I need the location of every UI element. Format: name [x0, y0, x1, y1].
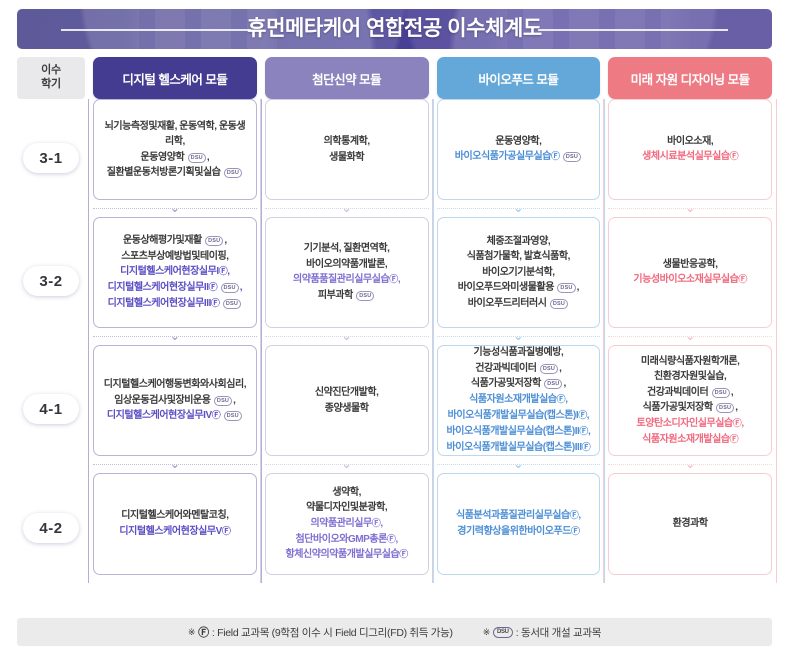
title-banner: 휴먼메타케어 연합전공 이수체계도: [17, 9, 772, 49]
column-rail-right: [261, 217, 262, 345]
flow-separator: ⌄: [437, 200, 601, 217]
flow-separator: ⌄: [93, 328, 257, 345]
course-item: 토양탄소디자인실무실습Ⓕ,: [637, 418, 744, 429]
semester-cell: 4-1: [17, 345, 85, 473]
field-marker-icon: Ⓕ: [219, 267, 228, 277]
dsu-badge-icon: DSU: [544, 379, 562, 389]
course-item: 첨단바이오와GMP총론Ⓕ,: [295, 534, 397, 545]
cell-m4-s31: 바이오소재,생체시료분석실무실습Ⓕ⌄: [608, 99, 772, 217]
field-marker-icon: Ⓕ: [578, 411, 587, 421]
column-rail-left: [432, 473, 433, 583]
course-list: 신약진단개발학,종양생물학: [315, 385, 379, 416]
course-item: 식품첨가물학,: [467, 251, 522, 262]
course-item: 식품가공및저장학 DSU,: [471, 378, 566, 389]
course-item: 의약품관리실무Ⓕ,: [311, 518, 383, 529]
cell-m2-s31: 의학통계학,생물화학⌄: [265, 99, 429, 217]
column-rail-left: [260, 345, 261, 473]
column-rail-right: [261, 345, 262, 473]
course-item: 스포츠부상예방법및테이핑,: [121, 251, 228, 262]
flow-separator: ⌄: [608, 456, 772, 473]
course-item: 디지털헬스케어현장실무IⒻ,: [120, 266, 230, 277]
module-header-advanced-drug[interactable]: 첨단신약 모듈: [265, 57, 429, 99]
course-item: 항체신약의약품개발실무실습Ⓕ: [285, 549, 407, 560]
dsu-badge-icon: DSU: [493, 627, 513, 638]
course-item: 친환경자원및실습,: [654, 371, 726, 382]
field-marker-icon: Ⓕ: [571, 527, 580, 537]
chevron-down-icon: ⌄: [685, 329, 695, 344]
flow-separator: ⌄: [608, 200, 772, 217]
chevron-down-icon: ⌄: [513, 329, 523, 344]
column-rail-right: [604, 345, 605, 473]
course-list: 디지털헬스케어행동변화와사회심리,임상운동검사및장비운용 DSU,디지털헬스케어…: [104, 377, 246, 424]
column-rail-left: [603, 99, 604, 217]
cell-m2-s42: 생약학,약물디자인및분광학,의약품관리실무Ⓕ,첨단바이오와GMP총론Ⓕ,항체신약…: [265, 473, 429, 583]
semester-header-line1: 이수: [41, 64, 61, 78]
course-item: 운동상해평가및재활 DSU,: [123, 235, 227, 246]
legend-dsu-text: : 동서대 개설 교과목: [516, 625, 601, 640]
column-rail-right: [776, 345, 777, 473]
course-item: 피부과학 DSU: [318, 290, 376, 301]
dsu-badge-icon: DSU: [716, 403, 734, 413]
course-box[interactable]: 바이오소재,생체시료분석실무실습Ⓕ: [608, 99, 772, 200]
course-item: 바이오푸드와미생물활용 DSU,: [458, 282, 579, 293]
column-rail-right: [776, 99, 777, 217]
column-rail-left: [603, 473, 604, 583]
field-marker-icon: Ⓕ: [399, 550, 408, 560]
course-item: 디지털헬스케어현장실무IIIⒻ DSU: [108, 298, 242, 309]
course-item: 기기분석,: [304, 243, 341, 254]
cell-m1-s31: 뇌기능측정및재활, 운동역학, 운동생리학,운동영양학 DSU,질환별운동처방론…: [93, 99, 257, 217]
cell-m4-s32: 생물반응공학,기능성바이오소재실무실습Ⓕ⌄: [608, 217, 772, 345]
course-box[interactable]: 환경과학: [608, 473, 772, 575]
module-header-future-resource[interactable]: 미래 자원 디자이닝 모듈: [608, 57, 772, 99]
cell-m1-s42: 디지털헬스케어와멘탈코칭,디지털헬스케어현장실무VⒻ: [93, 473, 257, 583]
grid-body: 3-1뇌기능측정및재활, 운동역학, 운동생리학,운동영양학 DSU,질환별운동…: [17, 99, 772, 583]
field-marker-icon: Ⓕ: [389, 275, 398, 285]
legend-footer: ※ Ⓕ : Field 교과목 (9학점 이수 시 Field 디그리(FD) …: [17, 618, 772, 646]
field-marker-icon: Ⓕ: [551, 152, 560, 162]
column-rail-right: [433, 345, 434, 473]
course-box[interactable]: 체중조절과영양,식품첨가물학, 발효식품학,바이오기기분석학,바이오푸드와미생물…: [437, 217, 601, 328]
course-box[interactable]: 생물반응공학,기능성바이오소재실무실습Ⓕ: [608, 217, 772, 328]
module-header-label: 미래 자원 디자이닝 모듈: [608, 57, 772, 99]
course-box[interactable]: 뇌기능측정및재활, 운동역학, 운동생리학,운동영양학 DSU,질환별운동처방론…: [93, 99, 257, 200]
flow-separator: ⌄: [437, 328, 601, 345]
course-list: 운동상해평가및재활 DSU,스포츠부상예방법및테이핑,디지털헬스케어현장실무IⒻ…: [108, 233, 242, 312]
course-list: 미래식량식품자원학개론,친환경자원및실습,건강과빅데이터 DSU,식품가공및저장…: [637, 354, 744, 448]
dsu-badge-icon: DSU: [221, 283, 239, 293]
chevron-down-icon: ⌄: [685, 201, 695, 216]
course-item: 디지털헬스케어현장실무IIⒻ DSU,: [108, 282, 242, 293]
course-item: 바이오식품가공실무실습Ⓕ DSU: [455, 151, 582, 162]
field-marker-icon: Ⓕ: [582, 443, 591, 453]
field-marker-icon: Ⓕ: [570, 511, 579, 521]
semester-badge: 4-1: [23, 394, 79, 424]
course-box[interactable]: 신약진단개발학,종양생물학: [265, 345, 429, 456]
course-list: 생물반응공학,기능성바이오소재실무실습Ⓕ: [633, 257, 747, 288]
chevron-down-icon: ⌄: [342, 329, 352, 344]
course-item: 생물반응공학,: [663, 259, 718, 270]
column-rail-left: [260, 99, 261, 217]
column-rail-right: [261, 99, 262, 217]
chevron-down-icon: ⌄: [170, 457, 180, 472]
module-header-label: 바이오푸드 모듈: [437, 57, 601, 99]
field-marker-icon: Ⓕ: [557, 395, 566, 405]
course-item: 경기력향상을위한바이오푸드Ⓕ: [457, 526, 579, 537]
course-item: 의약품품질관리실무실습Ⓕ,: [293, 274, 400, 285]
semester-cell: 4-2: [17, 473, 85, 583]
flow-separator: ⌄: [437, 456, 601, 473]
course-item: 바이오푸드리터러시 DSU: [468, 298, 569, 309]
grid-header-row: 이수 학기 디지털 헬스케어 모듈 첨단신약 모듈 바이오푸드 모듈 미래 자원…: [17, 57, 772, 99]
field-marker-icon: Ⓕ: [372, 519, 381, 529]
column-rail-left: [432, 217, 433, 345]
field-marker-icon: Ⓕ: [209, 283, 218, 293]
dsu-badge-icon: DSU: [224, 168, 242, 178]
semester-badge: 4-2: [23, 513, 79, 543]
column-rail-right: [433, 217, 434, 345]
course-box[interactable]: 운동상해평가및재활 DSU,스포츠부상예방법및테이핑,디지털헬스케어현장실무IⒻ…: [93, 217, 257, 328]
course-item: 바이오소재,: [667, 136, 713, 147]
chevron-down-icon: ⌄: [170, 201, 180, 216]
course-item: 디지털헬스케어현장실무VⒻ: [119, 526, 230, 537]
course-item: 바이오의약품개발론,: [306, 259, 387, 270]
dsu-badge-icon: DSU: [188, 153, 206, 163]
legend-field-course: ※ Ⓕ : Field 교과목 (9학점 이수 시 Field 디그리(FD) …: [188, 624, 453, 640]
asterisk-icon: ※: [483, 627, 490, 638]
course-item: 디지털헬스케어현장실무IVⒻ DSU: [107, 410, 243, 421]
course-item: 종양생물학: [325, 403, 369, 414]
course-item: 건강과빅데이터 DSU,: [475, 363, 561, 374]
course-item: 식품가공및저장학 DSU,: [643, 402, 738, 413]
course-item: 환경과학: [673, 518, 708, 529]
course-item: 질환면역학,: [343, 243, 389, 254]
column-rail-left: [432, 99, 433, 217]
chevron-down-icon: ⌄: [513, 457, 523, 472]
course-item: 바이오식품개발실무실습(캡스톤)IIⒻ,: [446, 426, 590, 437]
column-rail-left: [260, 217, 261, 345]
column-rail-right: [604, 99, 605, 217]
flow-separator: ⌄: [265, 456, 429, 473]
semester-row-3-1: 3-1뇌기능측정및재활, 운동역학, 운동생리학,운동영양학 DSU,질환별운동…: [17, 99, 772, 217]
course-item: 미래식량식품자원학개론,: [641, 356, 740, 367]
column-rail-right: [433, 473, 434, 583]
cell-m3-s31: 운동영양학,바이오식품가공실무실습Ⓕ DSU⌄: [437, 99, 601, 217]
dsu-badge-icon: DSU: [563, 152, 581, 162]
field-marker-icon: Ⓕ: [738, 275, 747, 285]
flow-separator: ⌄: [93, 456, 257, 473]
course-item: 바이오기기분석학,: [482, 267, 554, 278]
field-marker-icon: Ⓕ: [222, 527, 231, 537]
semester-badge: 3-1: [23, 143, 79, 173]
semester-badge: 3-2: [23, 266, 79, 296]
course-item: 약물디자인및분광학,: [306, 502, 387, 513]
column-rail-right: [433, 99, 434, 217]
course-item: 식품자원소재개발실습Ⓕ,: [469, 394, 567, 405]
field-marker-icon: Ⓕ: [387, 535, 396, 545]
column-rail-left: [432, 345, 433, 473]
chevron-down-icon: ⌄: [513, 201, 523, 216]
field-marker-icon: Ⓕ: [211, 299, 220, 309]
course-item: 발효식품학,: [524, 251, 570, 262]
course-item: 생체시료분석실무실습Ⓕ: [642, 151, 738, 162]
course-list: 의학통계학,생물화학: [324, 134, 370, 165]
course-list: 환경과학: [673, 516, 708, 532]
field-marker-icon: Ⓕ: [198, 624, 209, 640]
column-rail-left: [88, 345, 89, 473]
course-box[interactable]: 식품분석과품질관리실무실습Ⓕ,경기력향상을위한바이오푸드Ⓕ: [437, 473, 601, 575]
chevron-down-icon: ⌄: [170, 329, 180, 344]
cell-m4-s41: 미래식량식품자원학개론,친환경자원및실습,건강과빅데이터 DSU,식품가공및저장…: [608, 345, 772, 473]
dsu-badge-icon: DSU: [223, 299, 241, 309]
column-rail-left: [603, 345, 604, 473]
column-rail-left: [603, 217, 604, 345]
course-item: 뇌기능측정및재활,: [105, 121, 177, 132]
course-box[interactable]: 디지털헬스케어와멘탈코칭,디지털헬스케어현장실무VⒻ: [93, 473, 257, 575]
module-header-label: 첨단신약 모듈: [265, 57, 429, 99]
course-list: 기능성식품과질병예방,건강과빅데이터 DSU,식품가공및저장학 DSU,식품자원…: [446, 345, 590, 455]
module-header-biofood[interactable]: 바이오푸드 모듈: [437, 57, 601, 99]
flow-separator: ⌄: [608, 328, 772, 345]
semester-header-cell: 이수 학기: [17, 57, 85, 99]
semester-row-4-2: 4-2디지털헬스케어와멘탈코칭,디지털헬스케어현장실무VⒻ생약학,약물디자인및분…: [17, 473, 772, 583]
column-rail-right: [604, 217, 605, 345]
semester-header-line2: 학기: [41, 78, 61, 92]
course-box[interactable]: 기능성식품과질병예방,건강과빅데이터 DSU,식품가공및저장학 DSU,식품자원…: [437, 345, 601, 456]
course-item: 바이오식품개발실무실습(캡스톤)IⒻ,: [448, 410, 590, 421]
course-list: 기기분석, 질환면역학,바이오의약품개발론,의약품품질관리실무실습Ⓕ,피부과학 …: [293, 241, 400, 303]
column-rail-right: [776, 217, 777, 345]
cell-m2-s32: 기기분석, 질환면역학,바이오의약품개발론,의약품품질관리실무실습Ⓕ,피부과학 …: [265, 217, 429, 345]
column-rail-right: [776, 473, 777, 583]
module-header-label: 디지털 헬스케어 모듈: [93, 57, 257, 99]
course-box[interactable]: 디지털헬스케어행동변화와사회심리,임상운동검사및장비운용 DSU,디지털헬스케어…: [93, 345, 257, 456]
page-title: 휴먼메타케어 연합전공 이수체계도: [17, 9, 772, 49]
dsu-badge-icon: DSU: [557, 283, 575, 293]
course-item: 생약학,: [332, 487, 361, 498]
dsu-badge-icon: DSU: [214, 396, 232, 406]
chevron-down-icon: ⌄: [685, 457, 695, 472]
legend-dsu-course: ※ DSU : 동서대 개설 교과목: [483, 625, 601, 640]
cell-m3-s42: 식품분석과품질관리실무실습Ⓕ,경기력향상을위한바이오푸드Ⓕ: [437, 473, 601, 583]
chevron-down-icon: ⌄: [342, 201, 352, 216]
course-list: 운동영양학,바이오식품가공실무실습Ⓕ DSU: [455, 134, 582, 165]
field-marker-icon: Ⓕ: [730, 152, 739, 162]
course-item: 식품자원소재개발실습Ⓕ: [642, 434, 738, 445]
course-item: 질환별운동처방론기획및실습 DSU: [107, 167, 243, 178]
flow-separator: ⌄: [265, 328, 429, 345]
course-item: 신약진단개발학,: [315, 387, 379, 398]
dsu-badge-icon: DSU: [356, 291, 374, 301]
course-list: 생약학,약물디자인및분광학,의약품관리실무Ⓕ,첨단바이오와GMP총론Ⓕ,항체신약…: [285, 485, 407, 564]
cell-m3-s41: 기능성식품과질병예방,건강과빅데이터 DSU,식품가공및저장학 DSU,식품자원…: [437, 345, 601, 473]
course-box[interactable]: 미래식량식품자원학개론,친환경자원및실습,건강과빅데이터 DSU,식품가공및저장…: [608, 345, 772, 456]
course-item: 운동역학,: [179, 121, 216, 132]
column-rail-left: [88, 217, 89, 345]
course-box[interactable]: 기기분석, 질환면역학,바이오의약품개발론,의약품품질관리실무실습Ⓕ,피부과학 …: [265, 217, 429, 328]
legend-field-text: : Field 교과목 (9학점 이수 시 Field 디그리(FD) 취득 가…: [212, 625, 453, 640]
column-rail-right: [261, 473, 262, 583]
field-marker-icon: Ⓕ: [733, 419, 742, 429]
course-item: 운동영양학,: [495, 136, 541, 147]
course-item: 건강과빅데이터 DSU,: [647, 387, 733, 398]
course-list: 식품분석과품질관리실무실습Ⓕ,경기력향상을위한바이오푸드Ⓕ: [456, 508, 581, 540]
course-item: 기능성바이오소재실무실습Ⓕ: [633, 274, 747, 285]
chevron-down-icon: ⌄: [342, 457, 352, 472]
course-item: 생물화학: [329, 152, 364, 163]
asterisk-icon: ※: [188, 627, 195, 638]
module-header-digital-healthcare[interactable]: 디지털 헬스케어 모듈: [93, 57, 257, 99]
dsu-badge-icon: DSU: [712, 388, 730, 398]
course-list: 뇌기능측정및재활, 운동역학, 운동생리학,운동영양학 DSU,질환별운동처방론…: [101, 119, 249, 181]
semester-row-3-2: 3-2운동상해평가및재활 DSU,스포츠부상예방법및테이핑,디지털헬스케어현장실…: [17, 217, 772, 345]
curriculum-diagram: 휴먼메타케어 연합전공 이수체계도 이수 학기 디지털 헬스케어 모듈 첨단신약…: [0, 0, 789, 654]
column-rail-left: [88, 473, 89, 583]
cell-m3-s32: 체중조절과영양,식품첨가물학, 발효식품학,바이오기기분석학,바이오푸드와미생물…: [437, 217, 601, 345]
semester-cell: 3-2: [17, 217, 85, 345]
cell-m4-s42: 환경과학: [608, 473, 772, 583]
field-marker-icon: Ⓕ: [730, 435, 739, 445]
cell-m1-s41: 디지털헬스케어행동변화와사회심리,임상운동검사및장비운용 DSU,디지털헬스케어…: [93, 345, 257, 473]
course-item: 기능성식품과질병예방,: [473, 347, 563, 358]
course-list: 바이오소재,생체시료분석실무실습Ⓕ: [642, 134, 738, 165]
dsu-badge-icon: DSU: [224, 411, 242, 421]
course-item: 임상운동검사및장비운용 DSU,: [114, 395, 235, 406]
semester-row-4-1: 4-1디지털헬스케어행동변화와사회심리,임상운동검사및장비운용 DSU,디지털헬…: [17, 345, 772, 473]
column-rail-right: [604, 473, 605, 583]
course-list: 디지털헬스케어와멘탈코칭,디지털헬스케어현장실무VⒻ: [119, 508, 230, 539]
course-box[interactable]: 의학통계학,생물화학: [265, 99, 429, 200]
dsu-badge-icon: DSU: [540, 364, 558, 374]
flow-separator: ⌄: [93, 200, 257, 217]
cell-m2-s41: 신약진단개발학,종양생물학⌄: [265, 345, 429, 473]
semester-cell: 3-1: [17, 99, 85, 217]
course-box[interactable]: 운동영양학,바이오식품가공실무실습Ⓕ DSU: [437, 99, 601, 200]
curriculum-grid: 이수 학기 디지털 헬스케어 모듈 첨단신약 모듈 바이오푸드 모듈 미래 자원…: [17, 57, 772, 583]
course-item: 의학통계학,: [324, 136, 370, 147]
dsu-badge-icon: DSU: [550, 299, 568, 309]
column-rail-left: [260, 473, 261, 583]
course-item: 디지털헬스케어행동변화와사회심리,: [104, 379, 246, 390]
field-marker-icon: Ⓕ: [579, 427, 588, 437]
dsu-badge-icon: DSU: [205, 236, 223, 246]
course-item: 바이오식품개발실무실습(캡스톤)IIIⒻ: [446, 442, 590, 453]
course-item: 체중조절과영양,: [487, 236, 551, 247]
column-rail-left: [88, 99, 89, 217]
course-item: 디지털헬스케어와멘탈코칭,: [121, 510, 228, 521]
cell-m1-s32: 운동상해평가및재활 DSU,스포츠부상예방법및테이핑,디지털헬스케어현장실무IⒻ…: [93, 217, 257, 345]
course-item: 식품분석과품질관리실무실습Ⓕ,: [456, 510, 581, 521]
flow-separator: ⌄: [265, 200, 429, 217]
course-box[interactable]: 생약학,약물디자인및분광학,의약품관리실무Ⓕ,첨단바이오와GMP총론Ⓕ,항체신약…: [265, 473, 429, 575]
course-list: 체중조절과영양,식품첨가물학, 발효식품학,바이오기기분석학,바이오푸드와미생물…: [458, 234, 579, 312]
field-marker-icon: Ⓕ: [212, 411, 221, 421]
course-item: 운동영양학 DSU,: [141, 152, 210, 163]
